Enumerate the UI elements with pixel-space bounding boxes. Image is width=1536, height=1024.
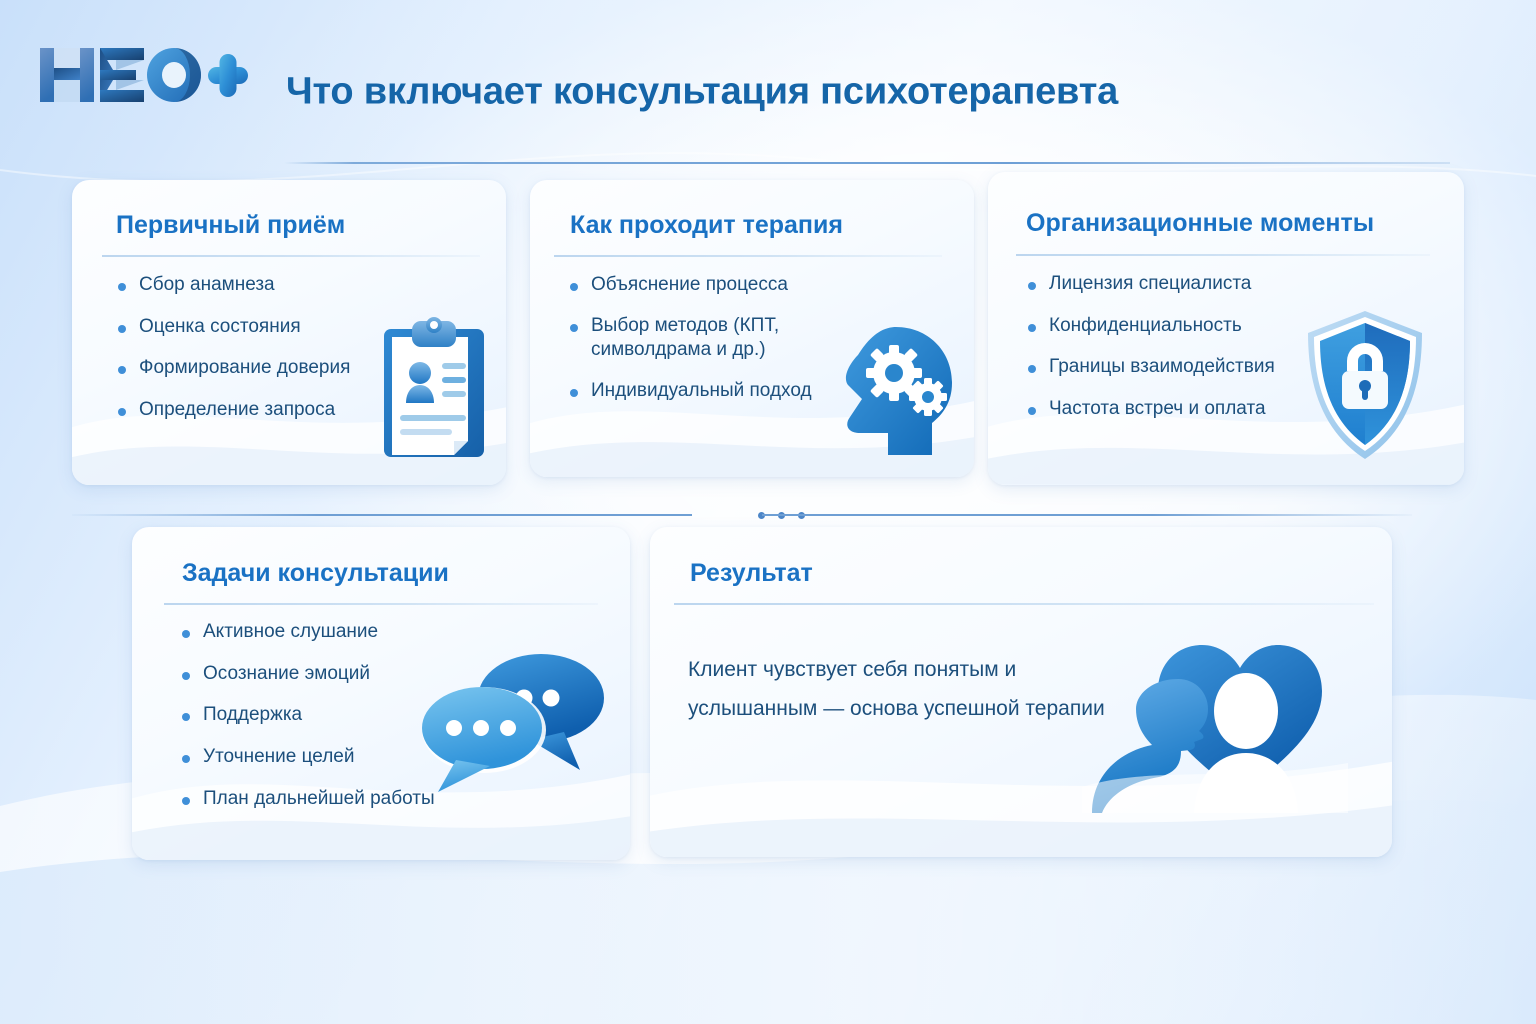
card-title: Первичный приём bbox=[116, 211, 345, 240]
list-item: Частота встреч и оплата bbox=[1024, 397, 1334, 422]
list-item: Выбор методов (КПТ, символдрама и др.) bbox=[566, 314, 846, 363]
list-item: Объяснение процесса bbox=[566, 273, 846, 298]
list-item: Сбор анамнеза bbox=[114, 273, 414, 298]
shield-lock-icon bbox=[1302, 309, 1428, 461]
list-item: Конфиденциальность bbox=[1024, 314, 1334, 339]
card-title-divider bbox=[674, 603, 1374, 605]
card-primary-appointment[interactable]: Первичный приём Сбор анамнеза Оценка сос… bbox=[72, 180, 506, 485]
title-underline bbox=[284, 162, 1450, 164]
speech-bubbles-icon bbox=[414, 644, 610, 796]
card-title-divider bbox=[1016, 254, 1430, 256]
page-title: Что включает консультация психотерапевта bbox=[286, 71, 1118, 114]
divider-line-right bbox=[762, 514, 1412, 516]
card-bullet-list: Лицензия специалиста Конфиденциальность … bbox=[1024, 272, 1334, 439]
list-item: Формирование доверия bbox=[114, 356, 414, 381]
list-item: Лицензия специалиста bbox=[1024, 272, 1334, 297]
card-title-divider bbox=[554, 255, 942, 257]
card-title: Организационные моменты bbox=[1026, 209, 1374, 238]
neo-plus-logo bbox=[38, 44, 248, 106]
card-title: Задачи консультации bbox=[182, 559, 449, 588]
card-bullet-list: Объяснение процесса Выбор методов (КПТ, … bbox=[566, 273, 846, 420]
page-header: Что включает консультация психотерапевта bbox=[38, 38, 1418, 134]
list-item: Оценка состояния bbox=[114, 315, 414, 340]
divider-line-left bbox=[72, 514, 692, 516]
card-title: Результат bbox=[690, 559, 813, 588]
list-item: Границы взаимодействия bbox=[1024, 355, 1334, 380]
list-item: Определение запроса bbox=[114, 398, 414, 423]
card-bullet-list: Сбор анамнеза Оценка состояния Формирова… bbox=[114, 273, 414, 440]
card-therapy-process[interactable]: Как проходит терапия Объяснение процесса… bbox=[530, 180, 974, 477]
clipboard-person-icon bbox=[376, 315, 492, 461]
head-gears-icon bbox=[836, 323, 960, 459]
card-result[interactable]: Результат Клиент чувствует себя понятым … bbox=[650, 527, 1392, 857]
card-title-divider bbox=[164, 603, 598, 605]
list-item: Индивидуальный подход bbox=[566, 379, 846, 404]
result-body-text: Клиент чувствует себя понятым и услышанн… bbox=[688, 651, 1108, 729]
card-title: Как проходит терапия bbox=[570, 211, 843, 240]
card-consultation-tasks[interactable]: Задачи консультации Активное слушание Ос… bbox=[132, 527, 630, 860]
list-item: Активное слушание bbox=[178, 620, 508, 645]
card-organizational[interactable]: Организационные моменты Лицензия специал… bbox=[988, 172, 1464, 485]
heart-couple-icon bbox=[1082, 627, 1348, 813]
section-divider bbox=[72, 508, 1412, 522]
card-title-divider bbox=[102, 255, 480, 257]
